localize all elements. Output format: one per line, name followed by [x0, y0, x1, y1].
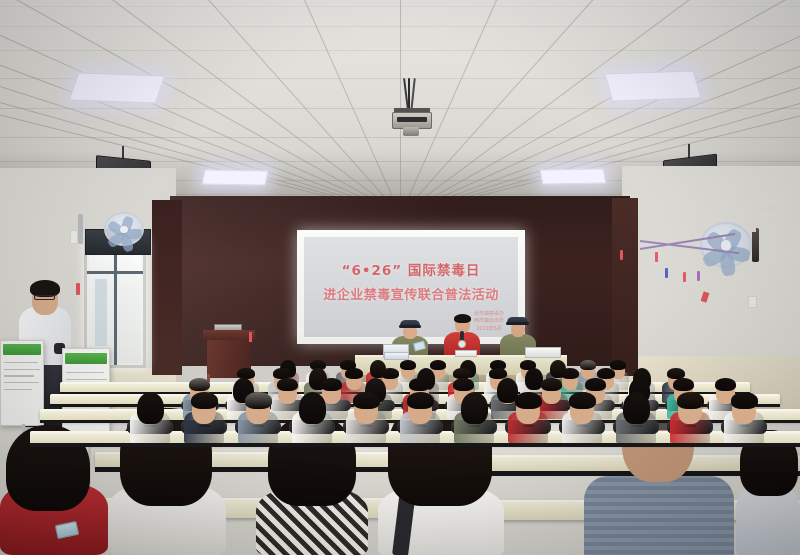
ceiling-grid-line [0, 6, 800, 7]
audience-member-hair [189, 378, 210, 391]
clothesline-clip [665, 268, 668, 278]
officer-left-cap-brim [399, 325, 421, 328]
fan-hub [721, 240, 730, 250]
ceiling-grid-line [0, 50, 800, 51]
audience-member-hair [407, 392, 434, 409]
slide-title-line1: “6•26” 国际禁毒日 [342, 259, 481, 279]
audience-member [454, 392, 494, 451]
audience-member [184, 392, 224, 451]
led-panel-front-right [604, 70, 701, 101]
window-view-building [95, 279, 107, 346]
audience-member [670, 392, 710, 451]
audience-member-hair [569, 392, 596, 409]
paper-stack [525, 347, 561, 358]
audience-member [616, 392, 656, 451]
backdrop-panel-right [612, 198, 638, 376]
brochure-stack [384, 352, 409, 360]
audience-member [346, 392, 386, 451]
window-mullion-vertical [114, 241, 117, 365]
clothesline-clip [620, 250, 623, 260]
audience-member-hair [299, 392, 326, 424]
foreground-r-shirt [584, 476, 734, 555]
board-text-line [4, 382, 39, 383]
audience-member-hair [515, 392, 542, 409]
slide-title-line2: 进企业禁毒宣传联合普法活动 [323, 284, 499, 303]
audience-member-hair [541, 378, 562, 391]
audience-member-hair [245, 392, 272, 409]
backdrop-panel-left [152, 200, 182, 375]
wall-fan-left [104, 212, 144, 246]
audience-member [562, 392, 602, 451]
audience-member [724, 392, 764, 451]
officer-right-cap-brim [506, 322, 529, 325]
wall-switch-left[interactable] [70, 230, 78, 244]
wall-fan-right-arm [752, 228, 759, 262]
ceiling-grid-line [0, 26, 800, 27]
projector-lens [403, 127, 419, 136]
speaker-badge [458, 340, 466, 348]
audience-member-hair [585, 378, 606, 391]
audience-member [292, 392, 332, 451]
audience-member-hair [731, 392, 758, 409]
speaker-hair [454, 314, 471, 323]
paper-stack [455, 350, 477, 357]
wall-socket-right[interactable] [748, 296, 757, 308]
led-panel-back-left [202, 169, 269, 185]
audience-member-hair [137, 392, 164, 424]
ceiling-projector [392, 78, 432, 140]
window-mullion-horizontal [87, 271, 143, 274]
audience-member-hair [409, 378, 430, 391]
lectern-marker [249, 332, 252, 342]
audience-member-hair [321, 378, 342, 391]
info-board-1-header [3, 344, 42, 355]
audience-member-hair [453, 378, 474, 391]
wall-pipe-horizontal [752, 206, 778, 210]
audience-member-hair [673, 378, 694, 391]
audience-member [238, 392, 278, 451]
audience-member [400, 392, 440, 451]
audience-member-hair [623, 392, 650, 424]
presenter-glasses [34, 295, 55, 300]
wall-red-marker [76, 283, 80, 295]
audience-member-hair [353, 392, 380, 409]
wall-fan-right [700, 222, 752, 268]
board-text-line [66, 379, 106, 380]
audience-member-hair [277, 378, 298, 391]
audience-member-hair [715, 378, 736, 391]
audience-member-hair [677, 392, 704, 409]
fan-hub [120, 226, 127, 233]
audience-member [508, 392, 548, 451]
board-text-line [66, 372, 104, 373]
clothesline-clip [697, 271, 700, 281]
audience-member-hair [191, 392, 218, 409]
meeting-room-photo: “6•26” 国际禁毒日 进企业禁毒宣传联合普法活动 张市镇禁毒办 西市镇派出所… [0, 0, 800, 555]
audience-member [130, 392, 170, 451]
board-text-line [4, 375, 34, 376]
board-text-line [4, 369, 40, 370]
projector-cable [410, 78, 416, 112]
clothesline-clip [655, 252, 658, 262]
info-board-1 [0, 340, 44, 426]
board-text-line [4, 389, 32, 390]
clothesline-clip [683, 272, 686, 282]
wall-fan-left-arm [78, 214, 83, 244]
led-panel-back-right [540, 168, 606, 184]
info-board-2-header [65, 353, 107, 364]
board-text-line [4, 362, 38, 363]
audience-member-hair [461, 392, 488, 424]
led-panel-front-left [69, 72, 166, 103]
